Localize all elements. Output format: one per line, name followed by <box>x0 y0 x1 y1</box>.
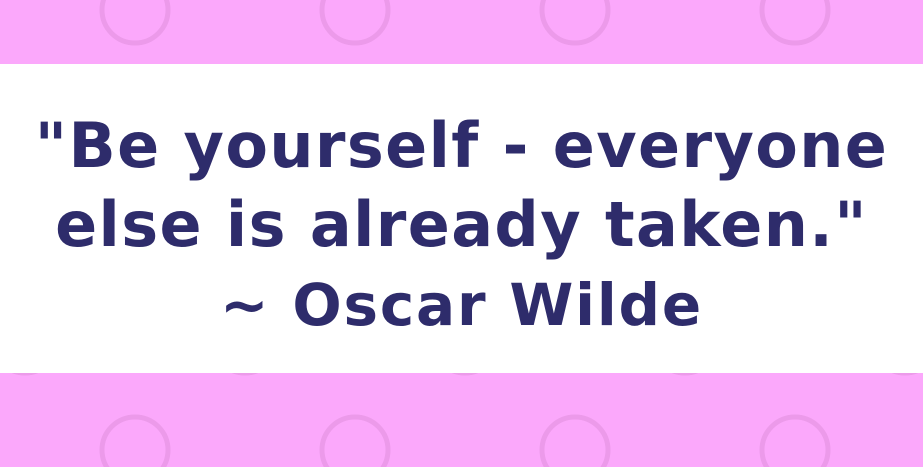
quote-line-1: "Be yourself - everyone <box>6 106 917 185</box>
quote-attribution: ~ Oscar Wilde <box>6 264 917 346</box>
quote-band: "Be yourself - everyone else is already … <box>0 64 923 373</box>
quote-text-block: "Be yourself - everyone else is already … <box>0 106 923 346</box>
quote-card: "Be yourself - everyone else is already … <box>0 0 923 467</box>
quote-line-2: else is already taken." <box>6 185 917 264</box>
